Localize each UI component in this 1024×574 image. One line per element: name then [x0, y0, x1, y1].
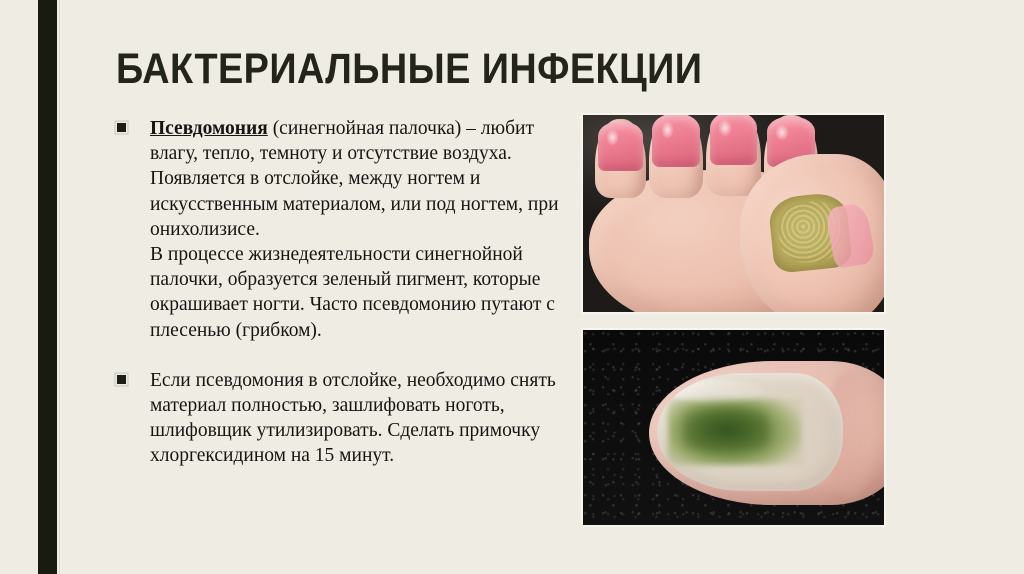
body-content: Псевдомония (синегнойная палочка) – люби… — [112, 116, 560, 469]
nail-plate — [657, 373, 843, 491]
finger-1 — [595, 119, 646, 198]
pink-nail-2 — [652, 114, 700, 168]
green-pseudomonas-nail-photo — [581, 328, 886, 527]
nail-gloss-2 — [661, 121, 674, 139]
bullet-item-treatment: Если псевдомония в отслойке, необходимо … — [112, 368, 560, 469]
nail-gloss-4 — [775, 124, 788, 141]
nail-gloss-1 — [606, 129, 619, 146]
finger-2 — [649, 113, 703, 198]
left-accent-bar — [38, 0, 57, 574]
nail-photo-content — [583, 330, 884, 525]
finger-3 — [706, 113, 760, 196]
fingertip-shape — [649, 361, 886, 505]
bullet-text-treatment: Если псевдомония в отслойке, необходимо … — [150, 370, 556, 467]
green-pigment-core — [683, 408, 769, 451]
bullet-text-pseudomonia: (синегнойная палочка) – любит влагу, теп… — [150, 118, 559, 341]
pink-nail-1 — [598, 122, 643, 171]
thumb-shape — [740, 154, 886, 314]
bullet-item-pseudomonia: Псевдомония (синегнойная палочка) – люби… — [112, 116, 560, 343]
left-accent-hairline — [59, 0, 60, 574]
pink-nail-3 — [710, 113, 758, 165]
square-bullet-icon — [117, 123, 126, 132]
slide-root: БАКТЕРИАЛЬНЫЕ ИНФЕКЦИИ Псевдомония (сине… — [0, 0, 1024, 574]
square-bullet-icon — [117, 375, 126, 384]
hand-photo-content — [583, 115, 884, 312]
term-pseudomonia: Псевдомония — [150, 118, 268, 139]
nail-gloss-3 — [718, 119, 731, 137]
hand-with-pink-nails-photo — [581, 113, 886, 314]
page-title: БАКТЕРИАЛЬНЫЕ ИНФЕКЦИИ — [116, 47, 732, 92]
